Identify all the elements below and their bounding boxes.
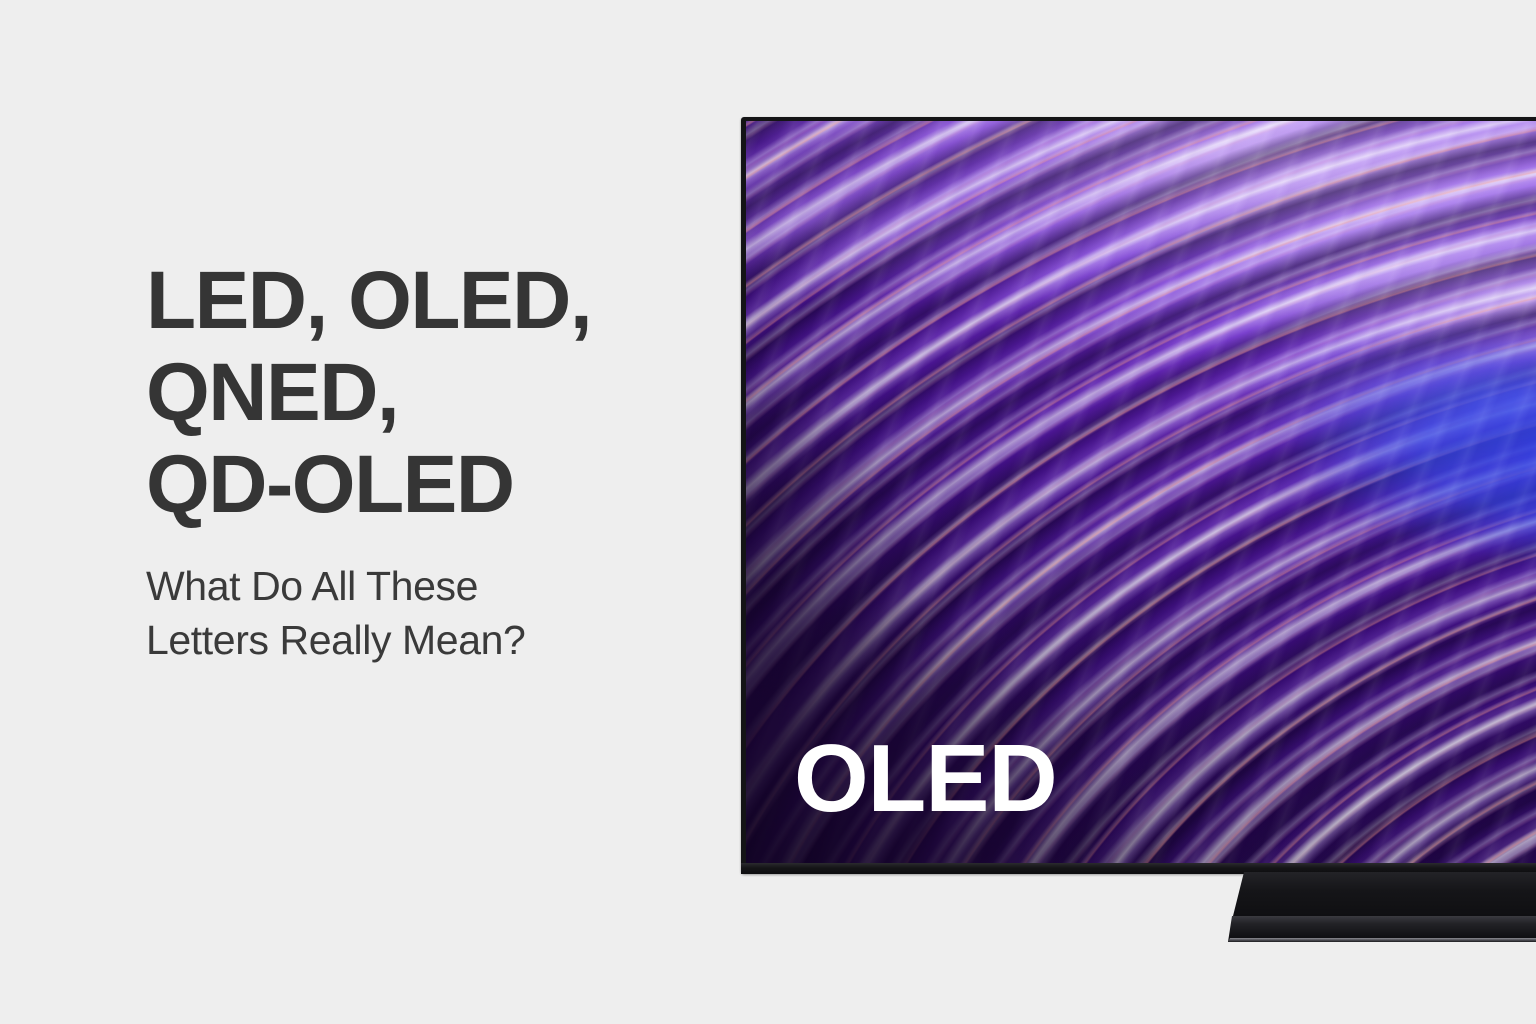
tv-stand-neck <box>1228 872 1536 920</box>
page-subtitle: What Do All These Letters Really Mean? <box>146 531 706 667</box>
tv-screen: OLED <box>746 121 1536 863</box>
promo-banner: LED, OLED, QNED, QD-OLED What Do All The… <box>0 0 1536 1024</box>
screen-label-oled: OLED <box>794 731 1057 827</box>
tv-stand-edge <box>1228 938 1536 942</box>
television: OLED <box>741 117 1536 874</box>
text-block: LED, OLED, QNED, QD-OLED What Do All The… <box>146 255 706 667</box>
page-title: LED, OLED, QNED, QD-OLED <box>146 255 706 531</box>
tv-stand <box>1228 872 1536 944</box>
